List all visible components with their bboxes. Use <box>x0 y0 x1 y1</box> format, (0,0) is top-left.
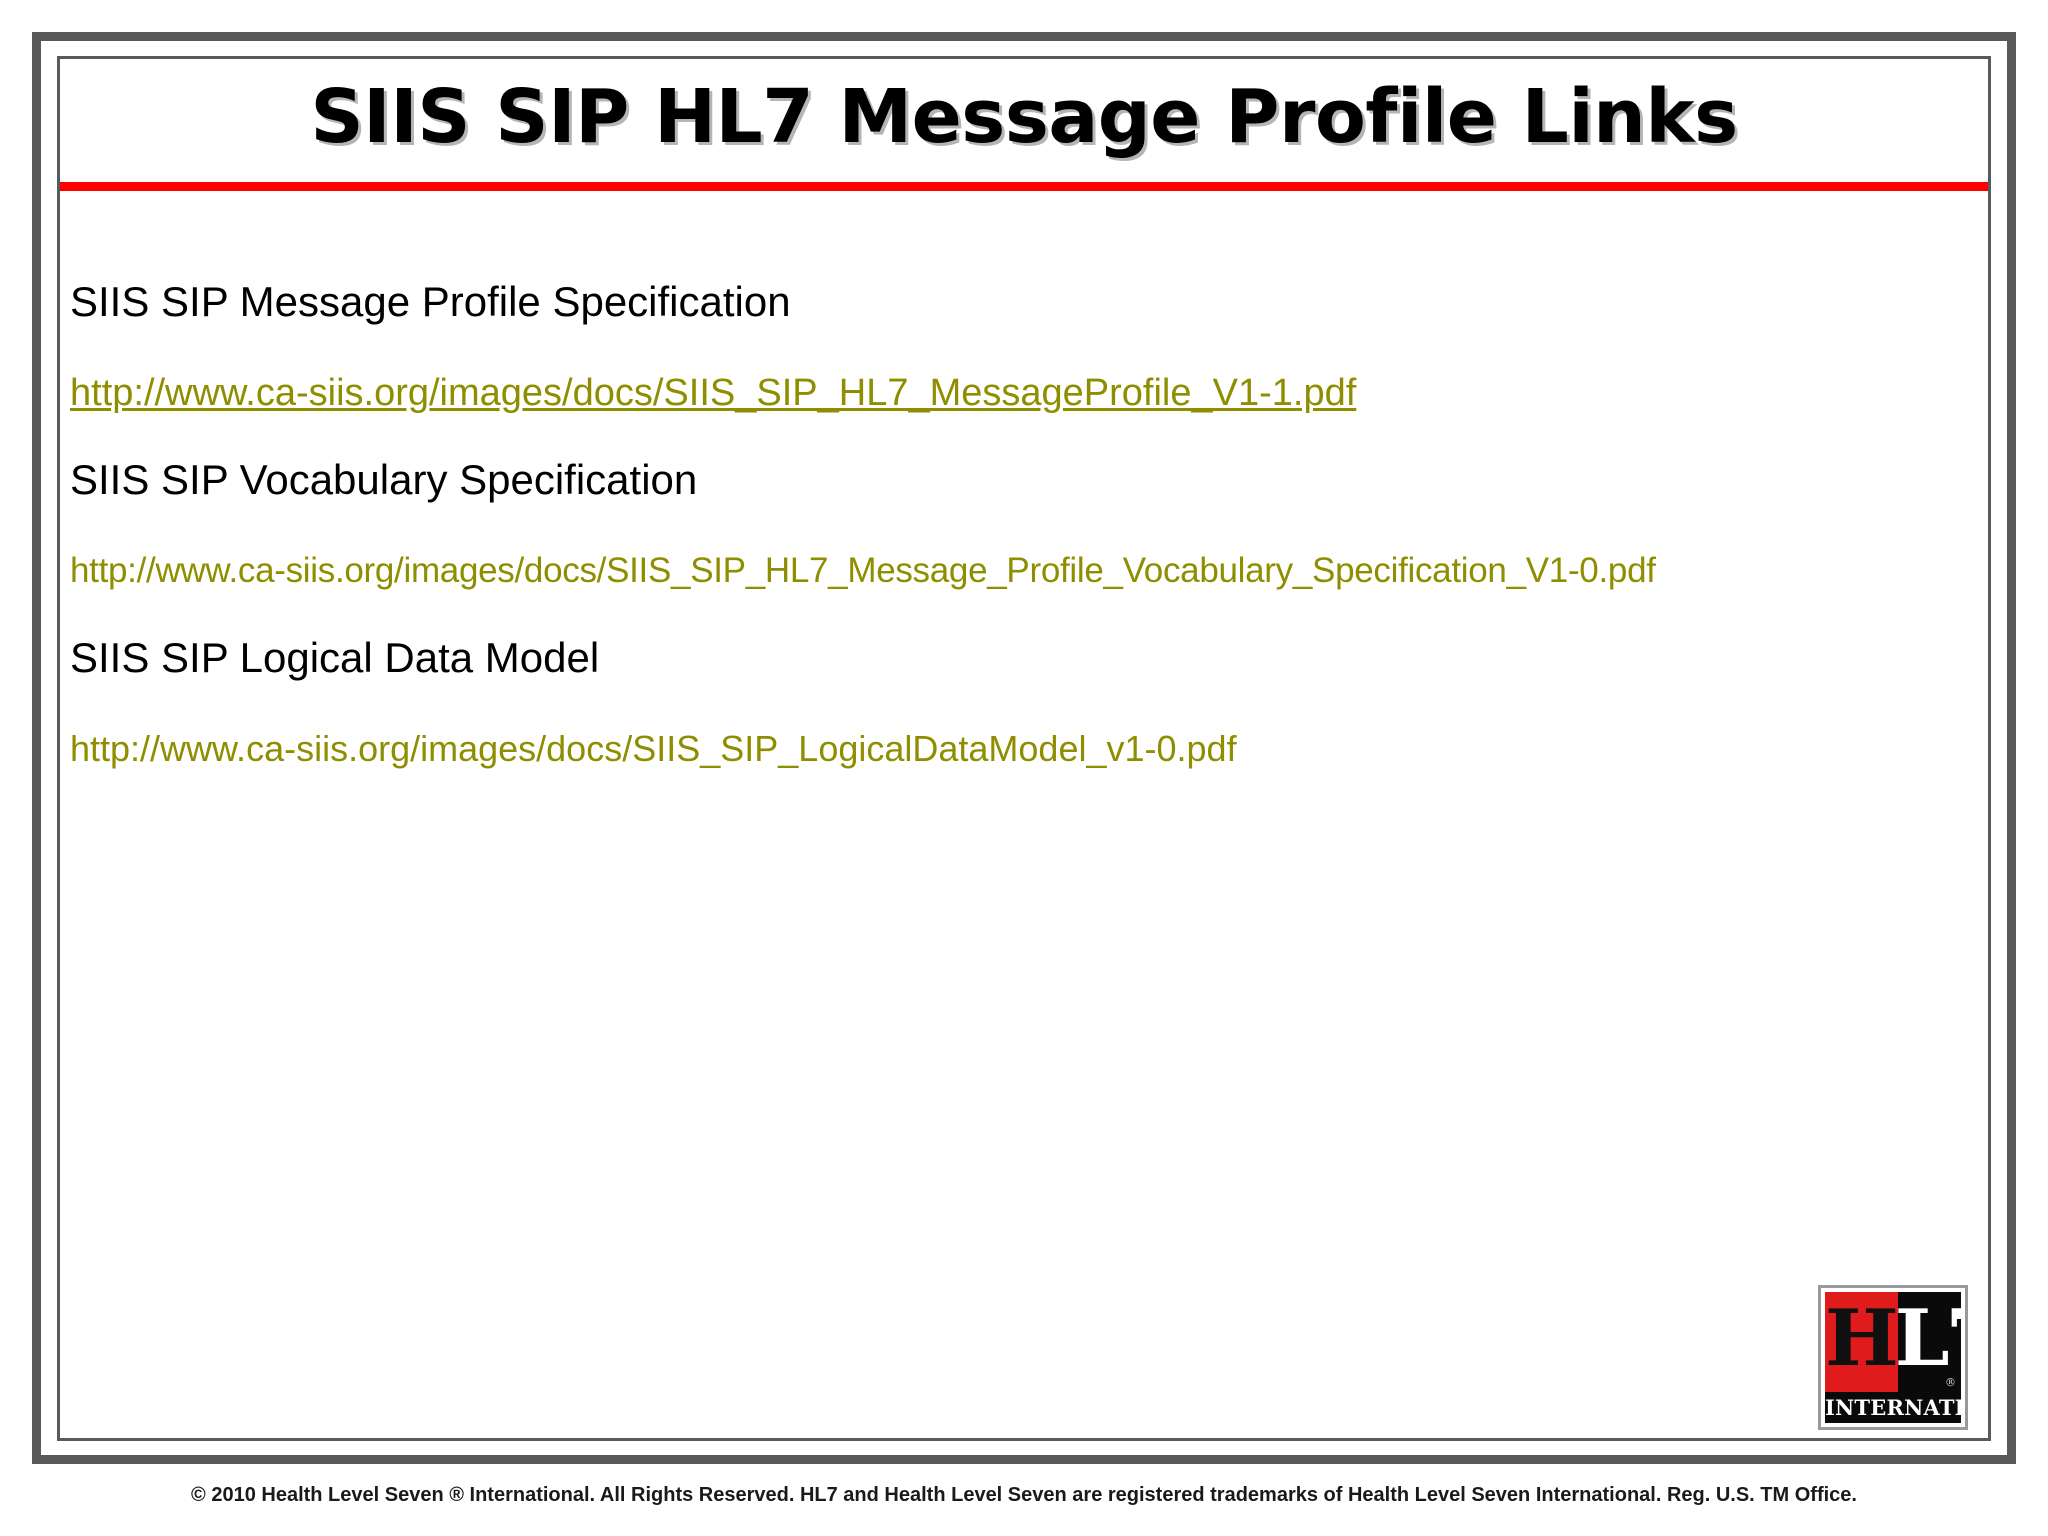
link-logical-data-model-url[interactable]: http://www.ca-siis.org/images/docs/SIIS_… <box>60 725 1988 773</box>
hl7-international-logo: HL7 ® INTERNATIONAL <box>1818 1285 1968 1430</box>
slide-content: SIIS SIP Message Profile Specification h… <box>60 191 1988 1438</box>
link-group-heading: SIIS SIP Logical Data Model <box>60 631 1988 685</box>
hl7-logo-letter-l: L <box>1895 1293 1946 1384</box>
link-group-logical-data-model: SIIS SIP Logical Data Model http://www.c… <box>60 631 1988 773</box>
link-group-message-profile: SIIS SIP Message Profile Specification h… <box>60 275 1988 417</box>
link-group-vocabulary: SIIS SIP Vocabulary Specification http:/… <box>60 453 1988 595</box>
link-group-heading: SIIS SIP Vocabulary Specification <box>60 453 1988 507</box>
slide-inner-border: SIIS SIP HL7 Message Profile Links SIIS … <box>57 56 1991 1441</box>
link-vocabulary-url[interactable]: http://www.ca-siis.org/images/docs/SIIS_… <box>60 547 1988 595</box>
page-title: SIIS SIP HL7 Message Profile Links <box>60 69 1988 165</box>
link-message-profile-url[interactable]: http://www.ca-siis.org/images/docs/SIIS_… <box>60 369 1988 417</box>
slide: SIIS SIP HL7 Message Profile Links SIIS … <box>0 0 2048 1536</box>
link-group-heading: SIIS SIP Message Profile Specification <box>60 275 1988 329</box>
hl7-logo-wordmark: INTERNATIONAL <box>1825 1395 1961 1421</box>
hl7-logo-letter-h: H <box>1825 1293 1895 1384</box>
hl7-logo-mark: HL7 <box>1825 1292 1961 1387</box>
registered-trademark-icon: ® <box>1945 1376 1956 1389</box>
footer-copyright: © 2010 Health Level Seven ® Internationa… <box>0 1482 2048 1508</box>
title-block: SIIS SIP HL7 Message Profile Links <box>60 59 1988 191</box>
title-divider-rule <box>60 182 1988 191</box>
hl7-logo-inner: HL7 ® INTERNATIONAL <box>1825 1292 1961 1423</box>
hl7-logo-digit-7: 7 <box>1946 1293 1961 1384</box>
